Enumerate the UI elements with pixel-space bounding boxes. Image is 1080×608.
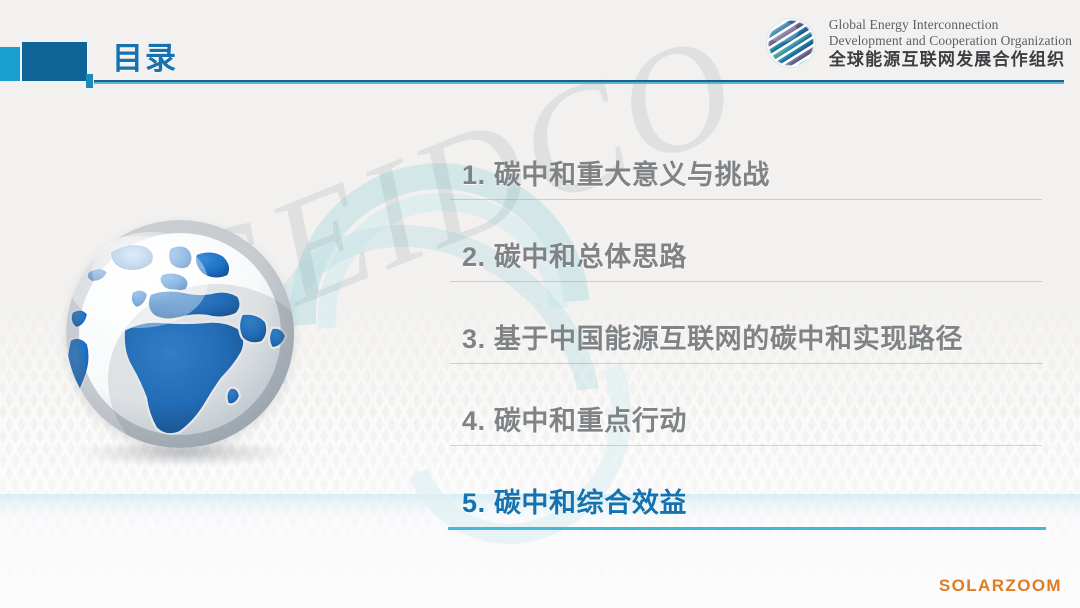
toc-item-4[interactable]: 4. 碳中和重点行动 (462, 372, 1062, 454)
header-divider-rule (94, 80, 1064, 84)
toc-item-label: 5. 碳中和综合效益 (462, 481, 687, 520)
solarzoom-watermark: SOLARZOOM (939, 576, 1062, 596)
toc-item-1[interactable]: 1. 碳中和重大意义与挑战 (462, 126, 1062, 208)
logo-text-line1: Global Energy Interconnection (829, 18, 1072, 32)
toc-item-3[interactable]: 3. 基于中国能源互联网的碳中和实现路径 (462, 290, 1062, 372)
toc-item-label: 4. 碳中和重点行动 (462, 399, 687, 438)
organization-logo-text: Global Energy Interconnection Developmen… (829, 18, 1072, 68)
toc-item-rule (450, 199, 1042, 200)
globe-illustration (58, 218, 306, 476)
logo-text-chinese: 全球能源互联网发展合作组织 (829, 51, 1072, 68)
logo-text-line2: Development and Cooperation Organization (829, 34, 1072, 48)
toc-item-5[interactable]: 5. 碳中和综合效益 (462, 454, 1062, 536)
organization-logo: Global Energy Interconnection Developmen… (762, 14, 1072, 72)
slide-canvas: GEIDCO 目录 (0, 0, 1080, 608)
table-of-contents: 1. 碳中和重大意义与挑战 2. 碳中和总体思路 3. 基于中国能源互联网的碳中… (462, 126, 1062, 536)
toc-item-rule (450, 445, 1042, 446)
header-rule-cap (86, 74, 93, 88)
toc-item-label: 3. 基于中国能源互联网的碳中和实现路径 (462, 317, 963, 356)
header-accent-square-blue (22, 42, 87, 81)
striped-globe-icon (762, 14, 820, 72)
toc-item-label: 2. 碳中和总体思路 (462, 235, 687, 274)
toc-item-rule (450, 363, 1042, 364)
page-title: 目录 (112, 33, 178, 78)
toc-item-label: 1. 碳中和重大意义与挑战 (462, 153, 770, 192)
toc-item-2[interactable]: 2. 碳中和总体思路 (462, 208, 1062, 290)
toc-item-rule-active (448, 527, 1046, 530)
globe-3d-icon (66, 220, 294, 448)
toc-item-rule (450, 281, 1042, 282)
